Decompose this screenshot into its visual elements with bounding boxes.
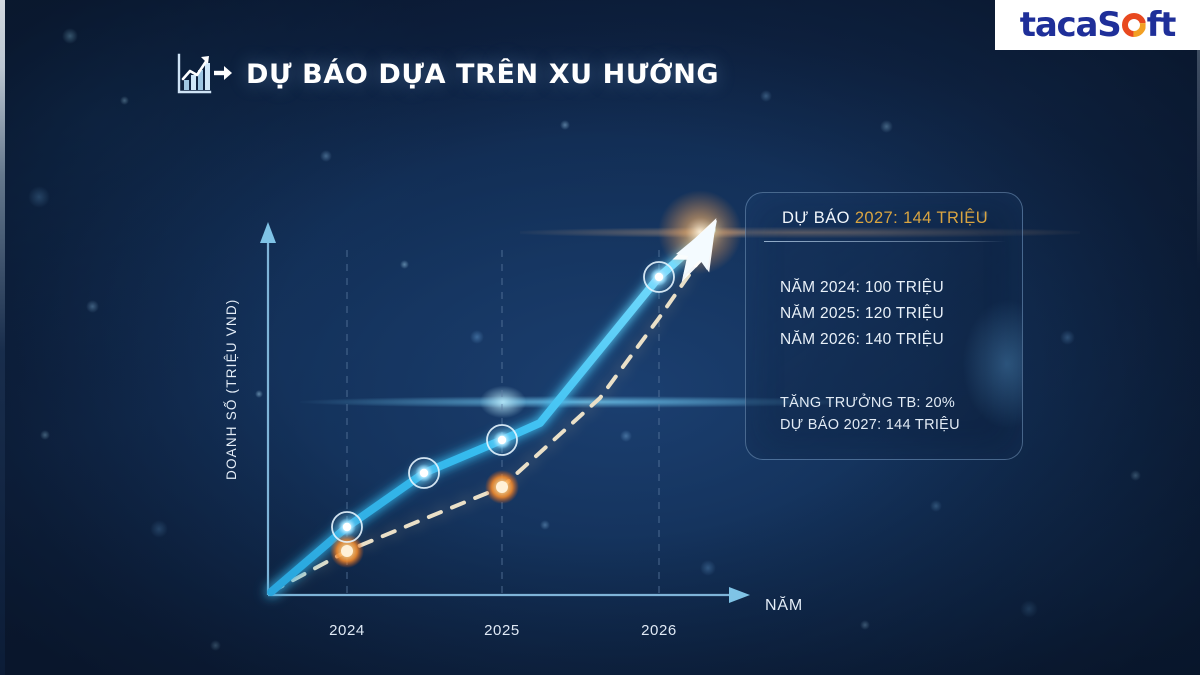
panel-edge-glow [962,299,1023,429]
forecast-2027-text: DỰ BÁO 2027: 144 TRIỆU [780,417,960,433]
panel-year-list: NĂM 2024: 100 TRIỆU NĂM 2025: 120 TRIỆU … [780,279,944,349]
chart-gridlines [347,250,659,595]
growth-rate-text: TĂNG TRƯỞNG TB: 20% [780,395,960,411]
list-item: NĂM 2025: 120 TRIỆU [780,305,944,323]
panel-title-static: DỰ BÁO [782,209,855,227]
y-axis-arrow-icon [260,222,276,243]
slide-canvas: tacaSft DỰ BÁO DỰA TRÊN XU HƯỚNG [0,0,1200,675]
forecast-info-panel[interactable]: DỰ BÁO 2027: 144 TRIỆU NĂM 2024: 100 TRI… [745,192,1023,460]
panel-summary: TĂNG TRƯỞNG TB: 20% DỰ BÁO 2027: 144 TRI… [780,395,960,433]
y-axis-label: DOANH SỐ (TRIỆU VND) [224,298,239,480]
x-tick-2024: 2024 [329,622,365,639]
list-item: NĂM 2026: 140 TRIỆU [780,331,944,349]
x-tick-2026: 2026 [641,622,677,639]
x-axis-arrow-icon [729,587,750,603]
x-axis-label: NĂM [765,595,803,614]
panel-divider [764,241,1006,242]
x-tick-2025: 2025 [484,622,520,639]
panel-title: DỰ BÁO 2027: 144 TRIỆU [782,209,988,228]
list-item: NĂM 2024: 100 TRIỆU [780,279,944,297]
panel-title-highlight: 2027: 144 TRIỆU [855,209,988,227]
